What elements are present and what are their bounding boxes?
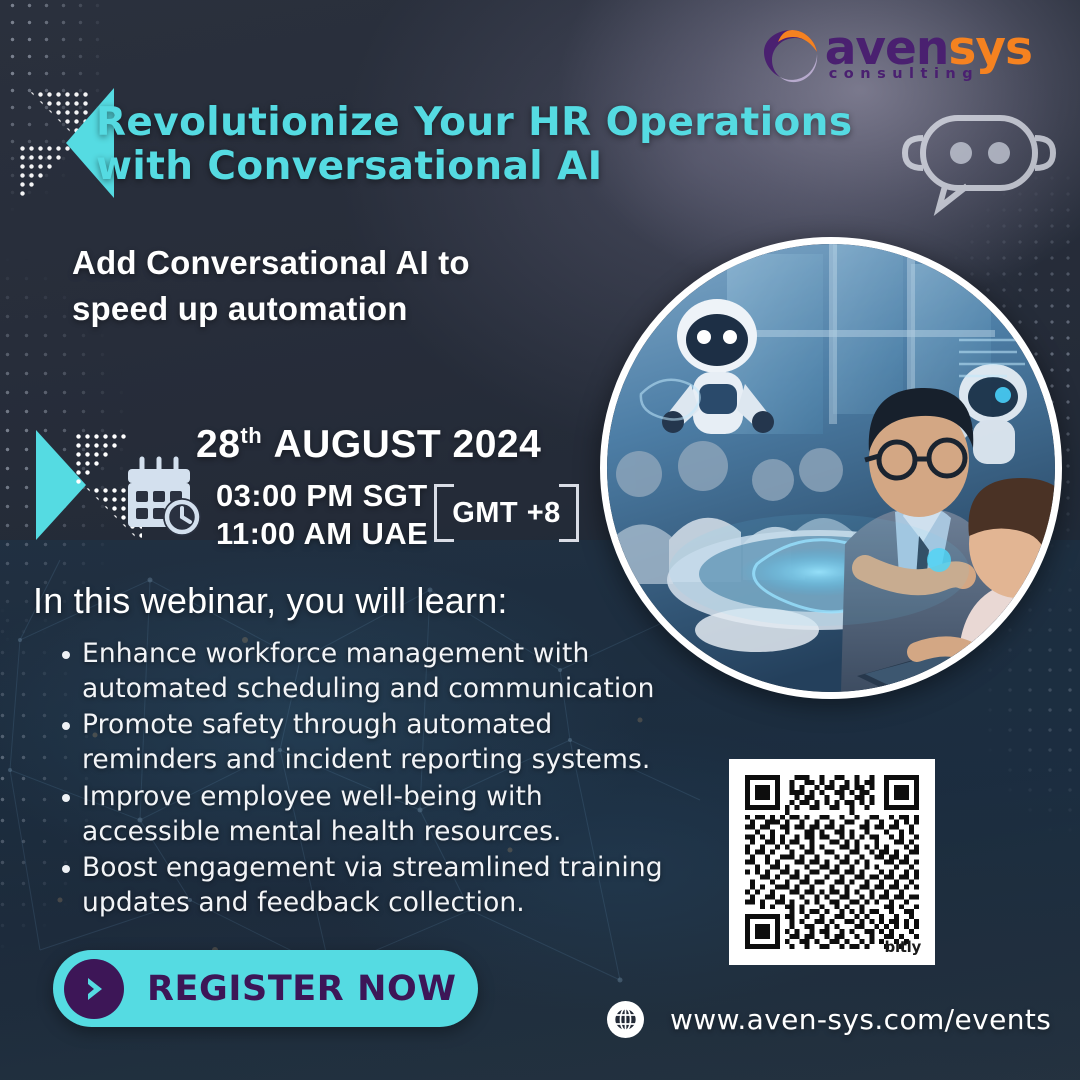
arrow-right-icon [64,959,124,1019]
register-button-label: REGISTER NOW [147,969,457,1009]
qr-code[interactable]: bitly [729,759,935,965]
website-url-text: www.aven-sys.com/events [670,1003,1051,1036]
event-month-year: AUGUST 2024 [274,423,542,466]
avensys-logo[interactable]: aven sys consulting [761,18,1032,84]
learn-heading: In this webinar, you will learn: [33,580,508,622]
bracket-left [434,484,454,542]
webinar-poster: aven sys consulting Revolutionize Your H… [0,0,1080,1080]
subheadline: Add Conversational AI to speed up automa… [72,240,572,331]
bracket-right [559,484,579,542]
page-title: Revolutionize Your HR Operations with Co… [96,101,896,190]
event-times: 03:00 PM SGT 11:00 AM UAE [216,477,428,554]
register-button[interactable]: REGISTER NOW [53,950,478,1027]
event-day: 28 [196,423,240,466]
logo-word-aven: aven [825,28,949,70]
list-item: Boost engagement via streamlined trainin… [56,851,681,920]
timezone-label: GMT +8 [452,497,561,530]
logo-word-sys: sys [948,28,1032,70]
chatbot-icon [893,108,1065,216]
website-link[interactable]: www.aven-sys.com/events [607,1001,1051,1038]
list-item: Enhance workforce management with automa… [56,637,681,706]
avensys-logo-mark [761,24,823,84]
qr-code-matrix [740,770,924,954]
qr-provider-label: bitly [885,938,921,956]
globe-icon [607,1001,644,1038]
event-date: 28th AUGUST 2024 [196,423,541,467]
logo-tagline: consulting [829,66,1032,82]
event-day-suffix: th [240,423,262,448]
calendar-clock-icon [122,455,206,539]
timezone-badge: GMT +8 [434,484,579,542]
avensys-logo-text: aven sys consulting [825,28,1032,82]
hero-photo-illustration [607,244,1055,692]
hero-photo [600,237,1062,699]
event-time-sgt: 03:00 PM SGT [216,477,428,515]
learn-bullet-list: Enhance workforce management with automa… [56,637,681,923]
event-time-uae: 11:00 AM UAE [216,515,428,553]
list-item: Improve employee well-being with accessi… [56,780,681,849]
list-item: Promote safety through automated reminde… [56,708,681,777]
